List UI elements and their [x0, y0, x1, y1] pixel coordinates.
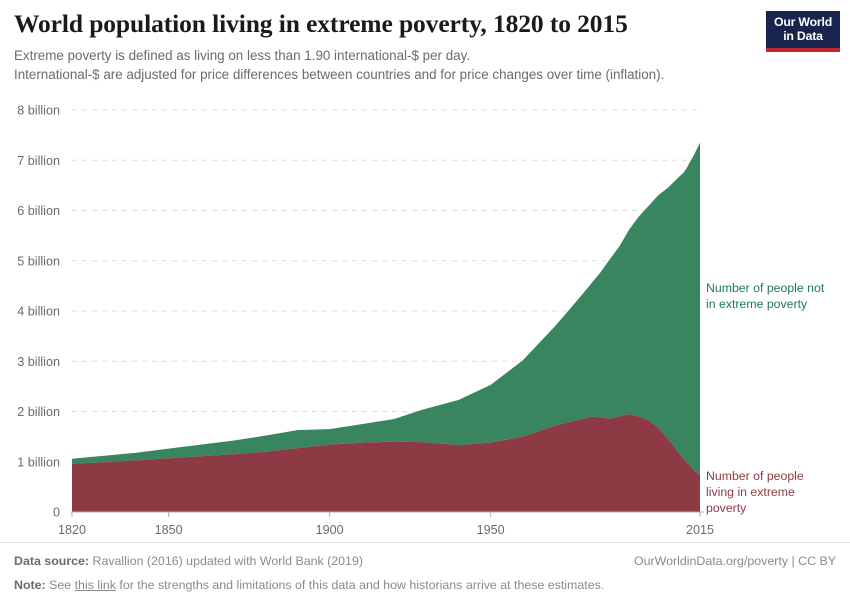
plot-area: 01 billion2 billion3 billion4 billion5 b… [0, 100, 850, 540]
y-axis-tick-0: 0 [53, 506, 60, 520]
page-title: World population living in extreme pover… [14, 8, 754, 40]
x-axis-tick-4: 2015 [686, 523, 714, 537]
x-axis-tick-3: 1950 [477, 523, 505, 537]
chart-subtitle: Extreme poverty is defined as living on … [14, 46, 754, 84]
footer-row-source: Data source: Ravallion (2016) updated wi… [14, 552, 836, 571]
y-axis-tick-2: 2 billion [17, 405, 60, 419]
series-label-not-in-poverty: Number of people not in extreme poverty [706, 280, 826, 312]
attribution-text: OurWorldinData.org/poverty | CC BY [634, 552, 836, 571]
note-text-after: for the strengths and limitations of thi… [116, 578, 604, 592]
note-label: Note: [14, 578, 46, 592]
footer-note: Note: See this link for the strengths an… [14, 576, 604, 595]
chart-container: World population living in extreme pover… [0, 0, 850, 600]
chart-footer: Data source: Ravallion (2016) updated wi… [0, 542, 850, 600]
subtitle-line-2: International-$ are adjusted for price d… [14, 65, 754, 84]
x-axis-tick-1: 1850 [155, 523, 183, 537]
note-link[interactable]: this link [75, 578, 116, 592]
y-axis-tick-7: 7 billion [17, 154, 60, 168]
x-axis-tick-0: 1820 [58, 523, 86, 537]
owid-logo-line-1: Our World [770, 16, 836, 30]
subtitle-line-1: Extreme poverty is defined as living on … [14, 46, 754, 65]
owid-logo[interactable]: Our World in Data [766, 11, 840, 52]
axis-lines [71, 512, 704, 517]
note-text-before: See [46, 578, 75, 592]
footer-row-note: Note: See this link for the strengths an… [14, 576, 836, 595]
y-axis-tick-1: 1 billion [17, 455, 60, 469]
data-source-text: Ravallion (2016) updated with World Bank… [89, 554, 363, 568]
y-axis-tick-5: 5 billion [17, 254, 60, 268]
y-axis-tick-labels: 01 billion2 billion3 billion4 billion5 b… [17, 104, 60, 520]
y-axis-tick-3: 3 billion [17, 355, 60, 369]
area-series-group [72, 143, 700, 512]
x-axis-tick-labels: 18201850190019502015 [58, 523, 714, 537]
data-source: Data source: Ravallion (2016) updated wi… [14, 552, 363, 571]
owid-logo-line-2: in Data [770, 30, 836, 44]
y-axis-tick-8: 8 billion [17, 104, 60, 118]
x-axis-tick-2: 1900 [316, 523, 344, 537]
y-axis-tick-6: 6 billion [17, 204, 60, 218]
data-source-label: Data source: [14, 554, 89, 568]
series-label-in-poverty: Number of people living in extreme pover… [706, 468, 826, 517]
y-axis-tick-4: 4 billion [17, 305, 60, 319]
chart-header: World population living in extreme pover… [14, 8, 754, 84]
